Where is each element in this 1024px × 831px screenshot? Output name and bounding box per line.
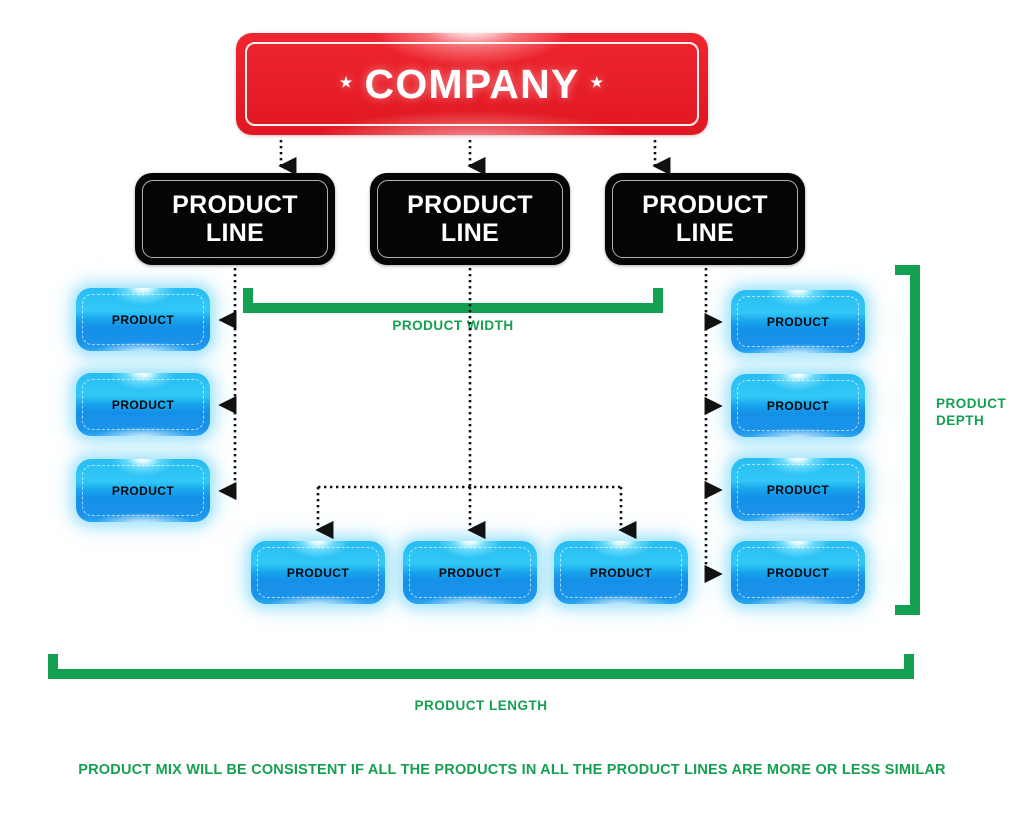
product-line-label: PRODUCT LINE [605,173,805,265]
product-box-left-1[interactable]: PRODUCT [76,288,210,351]
product-label: PRODUCT [251,541,385,604]
bracket-label-product-length: PRODUCT LENGTH [48,698,914,715]
company-banner: ★ COMPANY ★ [236,33,708,135]
product-box-right-4[interactable]: PRODUCT [731,541,865,604]
product-box-left-2[interactable]: PRODUCT [76,373,210,436]
bracket-label-product-width: PRODUCT WIDTH [243,318,663,335]
product-box-right-3[interactable]: PRODUCT [731,458,865,521]
product-box-bottom-3[interactable]: PRODUCT [554,541,688,604]
product-box-left-3[interactable]: PRODUCT [76,459,210,522]
product-label: PRODUCT [76,459,210,522]
product-label: PRODUCT [731,541,865,604]
product-label: PRODUCT [731,458,865,521]
product-label: PRODUCT [403,541,537,604]
bracket-product-length [48,652,914,686]
product-line-label: PRODUCT LINE [135,173,335,265]
product-line-box-3[interactable]: PRODUCT LINE [605,173,805,265]
diagram-caption: PRODUCT MIX WILL BE CONSISTENT IF ALL TH… [0,762,1024,778]
company-title: COMPANY [365,61,580,108]
bracket-label-product-depth: PRODUCT DEPTH [936,396,1022,430]
star-icon-right: ★ [590,75,604,89]
product-box-right-1[interactable]: PRODUCT [731,290,865,353]
star-icon-left: ★ [340,75,354,89]
product-line-box-1[interactable]: PRODUCT LINE [135,173,335,265]
product-box-right-2[interactable]: PRODUCT [731,374,865,437]
product-label: PRODUCT [554,541,688,604]
product-line-box-2[interactable]: PRODUCT LINE [370,173,570,265]
product-label: PRODUCT [731,290,865,353]
product-box-bottom-2[interactable]: PRODUCT [403,541,537,604]
product-label: PRODUCT [76,373,210,436]
diagram-canvas: ★ COMPANY ★ [0,0,1024,831]
product-box-bottom-1[interactable]: PRODUCT [251,541,385,604]
bracket-product-width [243,286,663,320]
bracket-product-depth [893,265,927,615]
product-line-label: PRODUCT LINE [370,173,570,265]
company-title-group: ★ COMPANY ★ [236,33,708,135]
product-label: PRODUCT [731,374,865,437]
product-label: PRODUCT [76,288,210,351]
